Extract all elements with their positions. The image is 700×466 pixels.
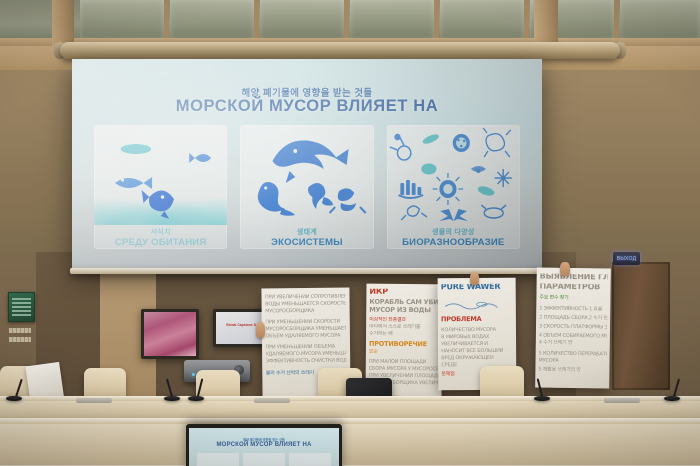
window-mullion <box>344 0 349 40</box>
microphone-base <box>664 396 680 401</box>
microphone-base <box>164 396 180 401</box>
window-mullion <box>164 0 169 40</box>
slide-panel-ecosystem: 생태계 ЭКОСИСТЕМЫ <box>240 125 373 249</box>
habitat-caption: 서식지 СРЕДУ ОБИТАНИЯ <box>94 228 227 248</box>
podium-monitor-panel <box>289 453 331 466</box>
poster-2-line: ИКР <box>369 289 439 296</box>
conference-desk-front <box>0 420 700 466</box>
conference-desk-front-edge <box>0 418 700 424</box>
desk-pad <box>254 398 290 403</box>
podium-monitor-panel <box>197 453 239 466</box>
podium-monitor-slide: 해양 폐기물에 영향을 받는 것들 МОРСКОЙ МУСОР ВЛИЯЕТ Н… <box>189 428 339 466</box>
projection-screen-roller <box>60 42 620 59</box>
biodiversity-illustration <box>387 125 520 225</box>
poster-2-line: ПРИ МАЛОЙ ПЛОЩАДИ <box>369 359 439 366</box>
ecosystem-caption: 생태계 ЭКОСИСТЕМЫ <box>240 228 373 248</box>
wall-display-left <box>141 309 199 359</box>
conference-room-photo: ВЫХОД 해양 폐기물에 영향을 받는 것들 МОРСКОЙ МУСОР ВЛ… <box>0 0 700 466</box>
wall-notice-board <box>8 292 35 322</box>
habitat-fish-icons <box>94 125 227 225</box>
poster-3-wave-doodle <box>444 300 510 310</box>
poster-4-line: 3 СКОРОСТЬ ПЛАТФОРМЫ 3 속력 <box>539 324 607 331</box>
poster-4-line: 5 КОЛИЧЕСТВО ПЕРЕРАБАТЫВАЕМОГО <box>539 351 607 358</box>
habitat-caption-russian: СРЕДУ ОБИТАНИЯ <box>94 237 227 248</box>
ecosystem-caption-korean: 생태계 <box>240 228 373 237</box>
microphone-base <box>6 396 22 401</box>
window-mullion <box>254 0 259 40</box>
presenter-hand <box>256 322 265 338</box>
poster-4-line: 4 ОБЪЕМ СОБИРАЕМОГО МУСОРА <box>539 333 607 340</box>
slide-panel-biodiversity: 생물의 다양성 БИОРАЗНООБРАЗИЕ <box>387 125 520 249</box>
poster-1-line: ОБЪЕМ УДАЛЯЕМОГО МУСОРА <box>265 333 346 340</box>
poster-2-line: 이상적인 최종결과 <box>369 317 439 324</box>
poster-2-line: 모순 <box>369 349 439 356</box>
poster-4: ВЫЯВЛЕНИЕ ГЛАВНЫХ ПАРАМЕТРОВ 주요 변수 찾기 1 … <box>535 267 611 388</box>
poster-4-line: ВЫЯВЛЕНИЕ ГЛАВНЫХ <box>540 274 608 281</box>
habitat-illustration <box>94 125 227 225</box>
slide-panel-habitat: 서식지 СРЕДУ ОБИТАНИЯ <box>94 125 227 249</box>
poster-2-line: ПРОТИВОРЕЧИЕ <box>369 341 439 348</box>
exit-sign-label: ВЫХОД <box>617 256 637 262</box>
slide-title-russian: МОРСКОЙ МУСОР ВЛИЯЕТ НА <box>72 97 542 116</box>
poster-4-line: 4 수거 쓰레기 양 <box>539 340 607 347</box>
poster-1-line: ВОДЫ УМЕНЬШАЕТСЯ СКОРОСТЬ <box>265 301 346 308</box>
podium-monitor-title-russian: МОРСКОЙ МУСОР ВЛИЯЕТ НА <box>189 442 339 448</box>
poster-2-line: 수거하는 배 <box>369 331 439 338</box>
podium-monitor: 해양 폐기물에 영향을 받는 것들 МОРСКОЙ МУСОР ВЛИЯЕТ Н… <box>186 424 342 466</box>
projection-screen: 해양 폐기물에 영향을 받는 것들 МОРСКОЙ МУСОР ВЛИЯЕТ Н… <box>72 59 542 271</box>
poster-4-line: ПАРАМЕТРОВ <box>539 284 607 291</box>
slide-panel-group: 서식지 СРЕДУ ОБИТАНИЯ <box>94 125 520 249</box>
poster-4-line: 2 ПЛОЩАДЬ СБОРА 2 수거 면적 <box>539 315 607 322</box>
poster-3-line: ВРЕД ОКРУЖАЮЩЕЙ <box>441 355 513 362</box>
glass-pane <box>170 0 254 40</box>
glass-pane <box>350 0 434 40</box>
poster-3-line: НАНОСИТ ВСЕ БОЛЬШИЙ <box>441 348 513 355</box>
poster-1-line: ПРИ УВЕЛИЧЕНИИ СОПРОТИВЛЕНИЯ <box>265 294 346 301</box>
poster-2-line: 바다에서 스스로 쓰레기를 <box>369 324 439 331</box>
window-mullion <box>524 0 529 40</box>
biodiversity-plankton-icons <box>387 125 520 225</box>
ecosystem-illustration <box>240 125 373 225</box>
poster-1-line: ЭФФЕКТИВНОСТЬ ОЧИСТКИ ВОДЫ <box>266 358 347 365</box>
podium-monitor-panels <box>197 453 331 466</box>
poster-4-line: 주요 변수 찾기 <box>539 295 607 302</box>
habitat-caption-korean: 서식지 <box>94 228 227 237</box>
presenter-hand <box>560 262 570 276</box>
presenter-hand <box>470 272 479 285</box>
poster-2-line: СБОРА МУСОРА У МУСОРОСБОРЩИКА <box>369 366 439 373</box>
window-mullion <box>434 0 439 40</box>
poster-2-line: МУСОР ИЗ ВОДЫ <box>369 307 439 314</box>
poster-3-line: КОЛИЧЕСТВО МУСОРА <box>441 327 513 334</box>
poster-4-line: 1 ЭФФЕКТИВНОСТЬ 1 효율 <box>539 306 607 313</box>
glass-pane <box>440 0 524 40</box>
podium-monitor-panel <box>243 453 285 466</box>
desk-pad <box>604 398 640 403</box>
exit-sign: ВЫХОД <box>613 252 640 265</box>
poster-1-line: ПРИ УМЕНЬШЕНИИ ОБЪЕМА <box>266 344 347 351</box>
glass-pane <box>260 0 344 40</box>
poster-1-line: ПРИ УМЕНЬШЕНИИ СКОРОСТИ <box>265 319 346 326</box>
microphone-base <box>188 396 204 401</box>
poster-1-line: МУСОРОСБОРЩИКА УМЕНЬШАЕТСЯ <box>265 326 346 333</box>
poster-4-line: 5 재활용 쓰레기의 양 <box>538 367 606 374</box>
poster-1-line: УДАЛЯЕМОГО МУСОРА УМЕНЬШАЕТСЯ <box>266 351 347 358</box>
slide-canvas: 해양 폐기물에 영향을 받는 것들 МОРСКОЙ МУСОР ВЛИЯЕТ Н… <box>72 59 542 271</box>
ecosystem-animal-icons <box>240 125 373 225</box>
microphone-base <box>534 396 550 401</box>
biodiversity-caption-korean: 생물의 다양성 <box>387 228 520 237</box>
biodiversity-caption-russian: БИОРАЗНООБРАЗИЕ <box>387 237 520 248</box>
poster-3-line: ПРОБЛЕМА <box>441 316 513 323</box>
poster-3-line: В МИРОВЫХ ВОДАХ <box>441 334 513 341</box>
poster-1-line: МУСОРОСБОРЩИКА <box>265 308 346 315</box>
poster-4-line: МУСОРА <box>538 358 606 365</box>
window-mullion <box>614 0 619 40</box>
poster-3-line: УВЕЛИЧИВАЕТСЯ И <box>441 341 513 348</box>
projector-power-led <box>192 373 195 376</box>
desk-pad <box>76 398 112 403</box>
biodiversity-caption: 생물의 다양성 БИОРАЗНООБРАЗИЕ <box>387 228 520 248</box>
glass-pane <box>620 0 700 40</box>
poster-2-line: КОРАБЛЬ САМ УБИРАЕТ <box>369 299 439 306</box>
wall-plaque-lower <box>9 337 31 342</box>
wall-plaque-upper <box>9 328 31 333</box>
exit-door[interactable] <box>612 262 670 390</box>
ecosystem-caption-russian: ЭКОСИСТЕМЫ <box>240 237 373 248</box>
glass-pane <box>80 0 164 40</box>
